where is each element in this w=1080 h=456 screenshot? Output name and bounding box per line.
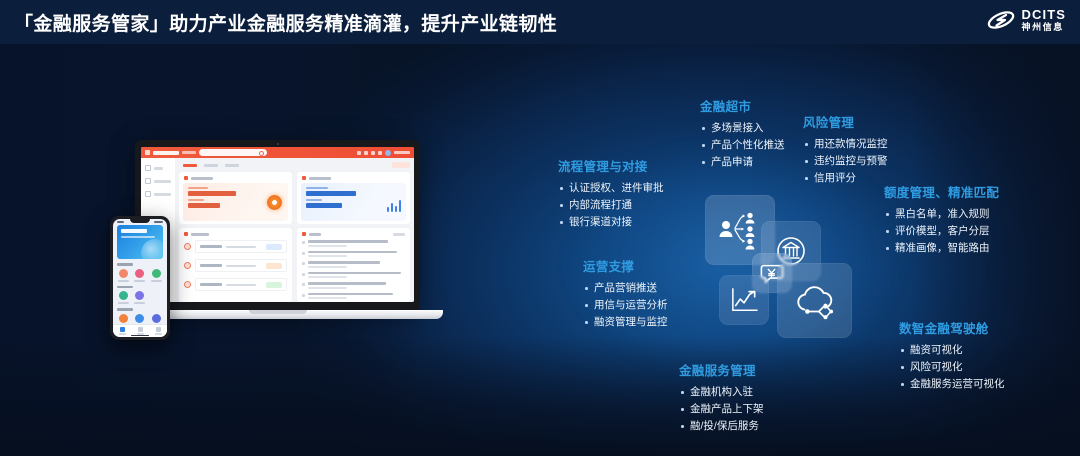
item-desc [226,246,256,248]
bullet-icon [302,273,305,276]
card-accent-icon [184,232,188,236]
panel-title [191,233,209,236]
item-title [200,264,222,267]
panel-header [184,232,287,236]
dashboard-help-icon[interactable] [371,151,375,155]
callout-list: 金融机构入驻 金融产品上下架 融/投/保后服务 [679,384,764,435]
logo-name-cn: 神州信息 [1022,23,1067,32]
callout-quota-management: 额度管理、精准匹配 黑白名单，准入规则 评价模型，客户分层 精准画像，智能路由 [884,182,999,257]
callout-list: 产品营销推送 用信与运营分析 融资管理与监控 [583,280,668,331]
report-icon [145,191,151,197]
icon-cluster [705,195,885,370]
hero-subtitle [121,236,155,238]
callout-list: 用还款情况监控 违约监控与预警 信用评分 [803,136,888,187]
status-badge [266,263,282,269]
stat-label [188,199,204,201]
callout-list-item: 用信与运营分析 [583,297,668,314]
icon-grid [117,269,163,282]
callout-process-management: 流程管理与对接 认证授权、进件审批 内部流程打通 银行渠道对接 [558,156,664,231]
callout-digital-cockpit: 数智金融驾驶舱 融资可视化 风险可视化 金融服务运营可视化 [899,318,1005,393]
panel-header [302,232,405,236]
callout-list-item: 认证授权、进件审批 [558,180,664,197]
grid-item-label [134,280,145,282]
stat-metric [188,187,283,196]
logo-name-en: DCITS [1022,8,1067,21]
stat-card-credit [297,172,410,224]
callout-title: 流程管理与对接 [558,156,664,175]
tab-profile[interactable] [155,327,162,335]
record-icon [135,291,144,300]
bullet-icon [302,241,305,244]
tab-home[interactable] [119,327,126,335]
apply-icon [119,291,128,300]
callout-list: 黑白名单，准入规则 评价模型，客户分层 精准画像，智能路由 [884,206,999,257]
dashboard-search-input[interactable] [199,149,267,156]
timeline-card [195,278,287,291]
grid-item-label [151,280,162,282]
phone-hero-banner [117,225,163,259]
sidebar-item-label [154,193,171,196]
hero-glow-decor [141,239,163,259]
tab-overview[interactable] [183,164,197,167]
callout-list-item: 金融服务运营可视化 [899,376,1005,393]
callout-list-item: 金融机构入驻 [679,384,764,401]
stat-value [306,203,342,208]
stat-label [306,187,328,189]
phone-screen [113,219,167,337]
tile-cloud-computing [777,263,852,338]
dashboard-username[interactable] [394,151,410,154]
stat-label [188,187,208,189]
status-icons [154,221,163,223]
stat-value [188,191,236,196]
callout-list-item: 黑白名单，准入规则 [884,206,999,223]
slide-canvas: 「金融服务管家」助力产业金融服务精准滴灌，提升产业链韧性 DCITS 神州信息 [0,0,1080,456]
callout-list-item: 精准画像，智能路由 [884,240,999,257]
callout-title: 风险管理 [803,112,888,131]
callout-list: 融资可视化 风险可视化 金融服务运营可视化 [899,342,1005,393]
grid-item-label [118,280,129,282]
dashboard-tabs [179,162,410,168]
laptop-device [135,140,443,319]
bar-chart-icon [387,199,402,212]
timeline-card [195,240,287,253]
stat-card-financing [179,172,292,224]
timeline-dot-icon [184,243,191,250]
service-icon [119,314,128,323]
sidebar-item-products[interactable] [145,178,171,184]
notice-text [308,272,405,279]
section-title [117,263,133,266]
home-icon [145,165,151,171]
list-item[interactable] [184,259,287,272]
monitor-icon [135,314,144,323]
callout-list: 认证授权、进件审批 内部流程打通 银行渠道对接 [558,180,664,231]
list-item[interactable] [302,293,405,300]
notice-text [308,240,405,247]
more-link[interactable] [393,233,405,236]
panel-title [309,233,321,236]
finance-icon [119,269,128,278]
callout-list: 多场景接入 产品个性化推送 产品申请 [700,120,785,171]
growth-chart-icon [730,287,758,313]
dashboard-bell-icon[interactable] [364,151,368,155]
callout-list-item: 用还款情况监控 [803,136,888,153]
dashboard-grid-icon[interactable] [357,151,361,155]
callout-list-item: 产品个性化推送 [700,137,785,154]
report-icon [152,314,161,323]
item-title [200,283,222,286]
bullet-icon [302,252,305,255]
dcits-swoosh-logo-icon [986,7,1016,33]
callout-list-item: 金融产品上下架 [679,401,764,418]
stat-metric [306,187,401,196]
item-desc [226,284,256,286]
user-icon [156,327,161,332]
slide-header: 「金融服务管家」助力产业金融服务精准滴灌，提升产业链韧性 DCITS 神州信息 [0,0,1080,44]
timeline-dot-icon [184,262,191,269]
list-item[interactable] [302,261,405,268]
callout-operations-support: 运营支撑 产品营销推送 用信与运营分析 融资管理与监控 [583,256,668,331]
home-icon [120,327,125,332]
list-item[interactable] [184,240,287,253]
card-accent-icon [302,176,306,180]
callout-list-item: 违约监控与预警 [803,153,888,170]
item-title [200,245,222,248]
laptop-screen [141,147,414,302]
list-item[interactable] [184,278,287,291]
callout-risk-management: 风险管理 用还款情况监控 违约监控与预警 信用评分 [803,112,888,187]
list-item[interactable] [302,282,405,289]
card-accent-icon [302,232,306,236]
device-mockups [0,44,470,374]
item-desc [226,265,256,267]
list-item[interactable] [302,272,405,279]
tab-pending[interactable] [204,164,218,167]
callout-title: 额度管理、精准匹配 [884,182,999,201]
list-item[interactable] [302,240,405,247]
bullet-icon [302,283,305,286]
process-timeline-panel [179,228,292,302]
avatar[interactable] [385,150,391,156]
callout-title: 运营支撑 [583,256,668,275]
timeline-card [195,259,287,272]
notice-text [308,261,405,268]
grid-item[interactable] [133,269,146,282]
list-item[interactable] [302,251,405,258]
logo-wordmark: DCITS 神州信息 [1022,8,1067,32]
grid-item[interactable] [150,269,163,282]
callout-title: 金融超市 [700,96,785,115]
icon-grid [117,291,163,304]
people-network-icon [717,210,763,250]
dashboard-stat-cards [179,172,410,224]
phone-notch [130,219,150,223]
stat-card-body [183,183,288,221]
callout-list-item: 融/投/保后服务 [679,418,764,435]
stat-value [188,203,220,208]
tab-label [155,333,162,335]
dashboard-nav-menu[interactable] [182,151,196,154]
callout-financial-supermarket: 金融超市 多场景接入 产品个性化推送 产品申请 [700,96,785,171]
dashboard-brand-name [153,151,179,155]
box-icon [145,178,151,184]
bullet-icon [302,262,305,265]
callout-list-item: 评价模型，客户分层 [884,223,999,240]
callout-title: 金融服务管理 [679,360,764,379]
section-title [117,286,133,289]
stat-card-body [301,183,406,221]
grid-item[interactable] [133,291,146,304]
stat-card-header [184,176,287,180]
section-title [117,308,133,311]
page-title: 「金融服务管家」助力产业金融服务精准滴灌，提升产业链韧性 [14,9,557,36]
primary-action-button[interactable] [392,162,410,168]
dashboard-topbar [141,147,414,158]
callout-financial-service-management: 金融服务管理 金融机构入驻 金融产品上下架 融/投/保后服务 [679,360,764,435]
status-badge [266,282,282,288]
notice-text [308,282,405,289]
callout-list-item: 银行渠道对接 [558,214,664,231]
grid-item-label [134,302,145,304]
status-badge [266,244,282,250]
donut-gauge-icon [267,195,282,210]
dashboard-topbar-actions [357,150,410,156]
timeline-dot-icon [184,281,191,288]
callout-list-item: 融资管理与监控 [583,314,668,331]
grid-item[interactable] [117,269,130,282]
service-icon [138,327,143,332]
callout-list-item: 融资可视化 [899,342,1005,359]
card-accent-icon [184,176,188,180]
phone-home-indicator [131,335,149,337]
callout-title: 数智金融驾驶舱 [899,318,1005,337]
dashboard-gear-icon[interactable] [378,151,382,155]
laptop-camera-icon [277,143,279,145]
stat-value [306,191,356,196]
status-time [117,221,124,223]
sidebar-item-reports[interactable] [145,191,171,197]
callout-list-item: 信用评分 [803,170,888,187]
dashboard-logo-icon [145,150,150,155]
grid-item-label [118,302,129,304]
card-title [191,177,213,180]
callout-list-item: 内部流程打通 [558,197,664,214]
stat-label [306,199,322,201]
cloud-computing-icon [792,281,838,321]
notice-text [308,251,405,258]
sidebar-item-label [154,167,163,170]
callout-list-item: 风险可视化 [899,359,1005,376]
hero-title [121,229,147,233]
brand-logo: DCITS 神州信息 [986,7,1067,33]
notice-text [308,293,405,300]
grid-item[interactable] [117,291,130,304]
stat-card-header [302,176,405,180]
callout-list-item: 产品营销推送 [583,280,668,297]
tile-growth-chart [719,275,769,325]
callout-list-item: 产品申请 [700,154,785,171]
insurance-icon [152,269,161,278]
notice-list-panel [297,228,410,302]
sidebar-item-home[interactable] [145,165,171,171]
tab-label [119,333,126,335]
laptop-trackpad-notch [249,310,307,314]
tab-done[interactable] [225,164,239,167]
phone-device [110,216,170,340]
dashboard-body [141,158,414,302]
callout-list-item: 多场景接入 [700,120,785,137]
card-title [309,177,331,180]
dashboard-main [175,158,414,302]
dashboard-lower [179,228,410,302]
loan-icon [135,269,144,278]
bullet-icon [302,294,305,297]
sidebar-item-label [154,180,171,183]
tab-service[interactable] [137,327,144,335]
laptop-lid [135,140,420,310]
